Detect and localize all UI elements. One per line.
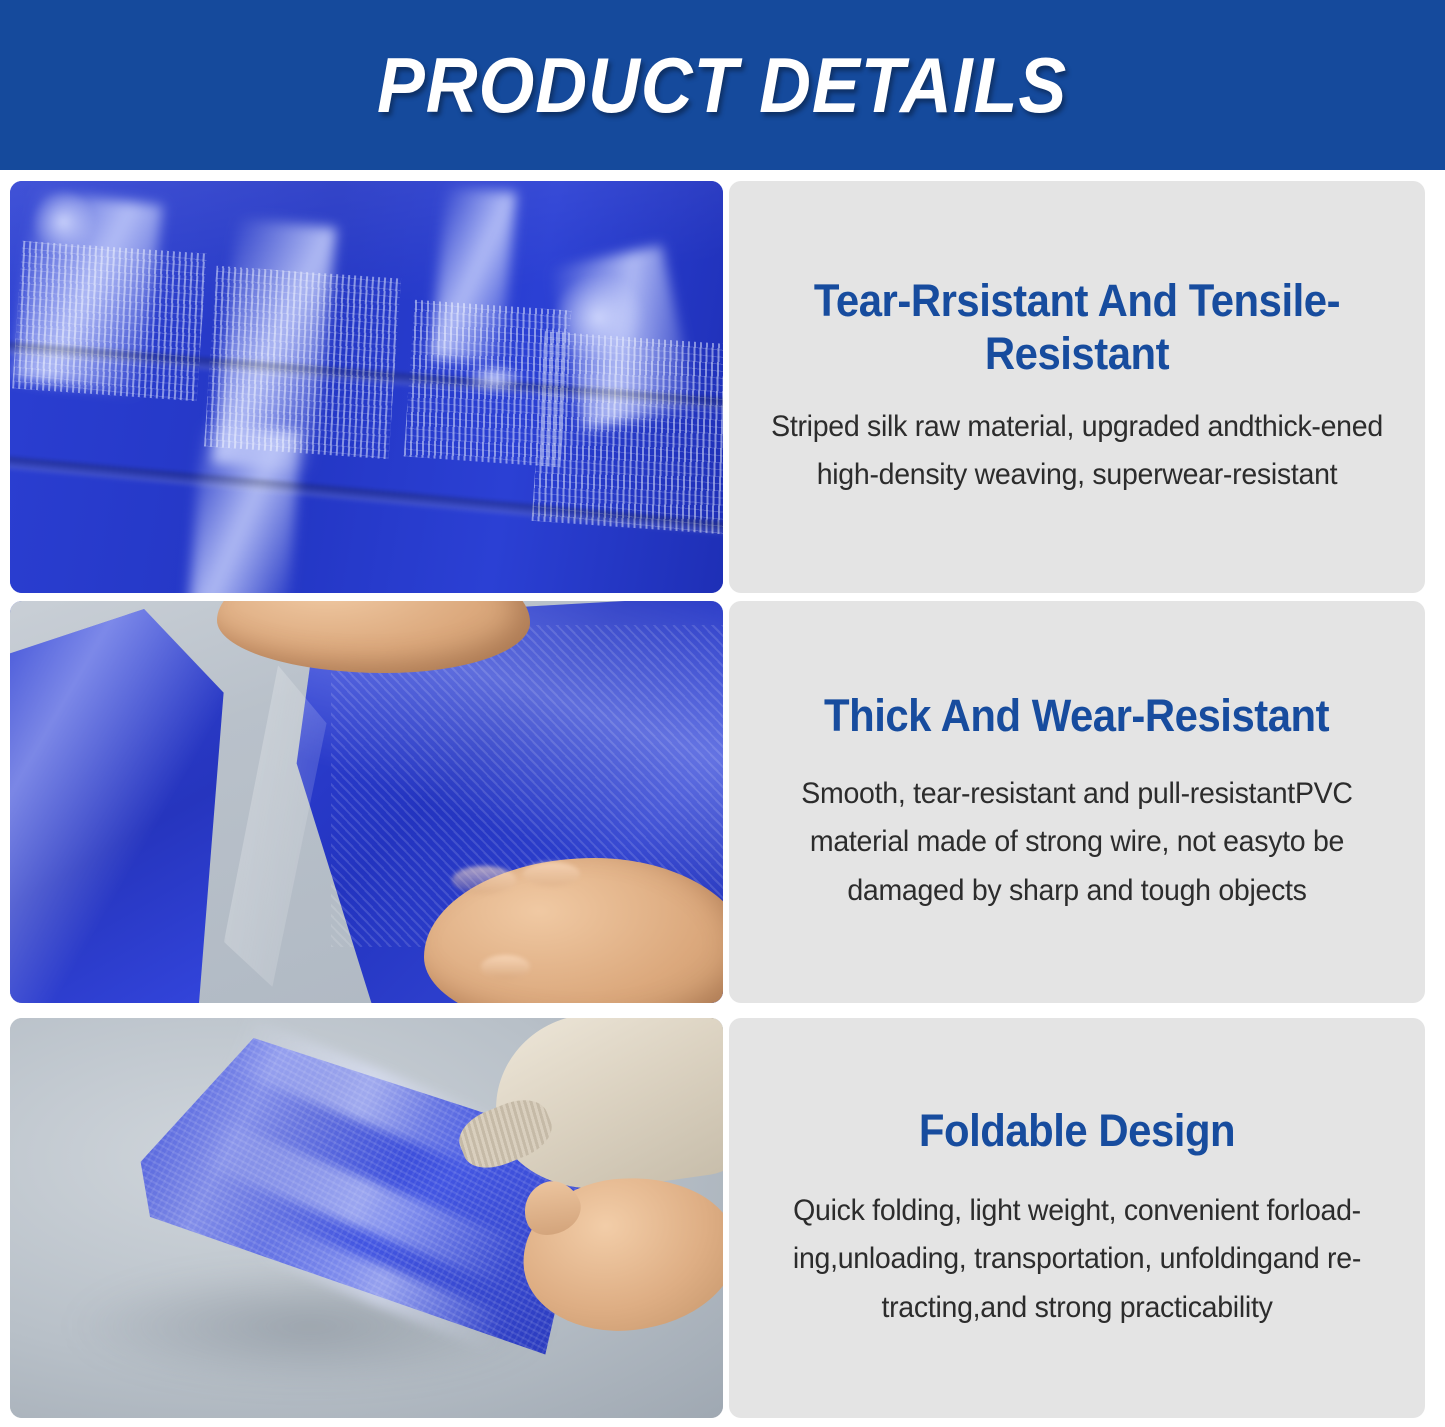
feature-text-panel-2: Thick And Wear-Resistant Smooth, tear-re… [729,601,1425,1003]
feature-body: Striped silk raw material, upgraded andt… [771,403,1383,500]
feature-text-panel-1: Tear-Rrsistant And Tensile-Resistant Str… [729,181,1425,593]
feature-image-wear-resistant [10,601,723,1003]
feature-heading: Tear-Rrsistant And Tensile-Resistant [778,274,1377,380]
feature-image-foldable [10,1018,723,1418]
weave-texture [531,331,723,534]
feature-row-2: Thick And Wear-Resistant Smooth, tear-re… [10,601,1425,1003]
specular-spot [466,362,523,395]
feature-body: Smooth, tear-resistant and pull-resistan… [771,770,1383,916]
feature-row-1: Tear-Rrsistant And Tensile-Resistant Str… [10,181,1425,593]
weave-texture [12,241,207,402]
page-title: PRODUCT DETAILS [377,46,1067,124]
specular-spot [31,189,95,255]
feature-text-panel-3: Foldable Design Quick folding, light wei… [729,1018,1425,1418]
feature-body: Quick folding, light weight, convenient … [771,1187,1383,1333]
feature-image-tear-resistant [10,181,723,593]
knuckle-highlight [481,955,531,979]
feature-heading: Thick And Wear-Resistant [824,689,1329,742]
feature-row-3: Foldable Design Quick folding, light wei… [10,1018,1425,1418]
header-banner: PRODUCT DETAILS [0,0,1445,170]
feature-heading: Foldable Design [919,1104,1235,1157]
product-details-page: PRODUCT DETAILS Tear-Rrsistant And Tensi… [0,0,1445,1427]
